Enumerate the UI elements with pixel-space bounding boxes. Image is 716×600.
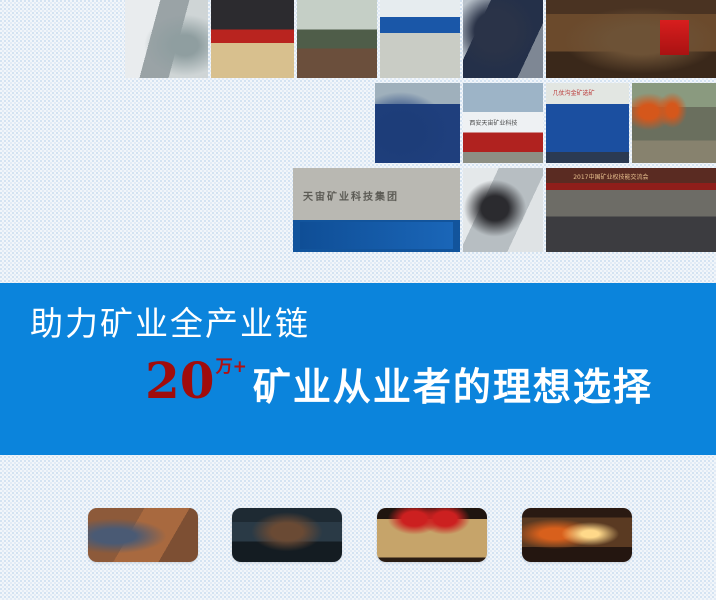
photo-processing-plant-image bbox=[380, 0, 460, 78]
photo-chairman-office-image bbox=[546, 0, 716, 78]
thumb-smelter-furnace-worker[interactable] bbox=[522, 508, 632, 562]
photo-helmet-workers-van-image bbox=[632, 83, 716, 163]
photo-lab-instrument[interactable] bbox=[125, 0, 208, 78]
promo-banner: 助力矿业全产业链 20万+矿业从业者的理想选择 bbox=[0, 283, 716, 455]
thumb-geologist-outcrop-image bbox=[88, 508, 198, 562]
photo-blue-uniform-group[interactable]: 几仗沟金矿选矿 bbox=[546, 83, 629, 163]
photo-industry-conference-caption: 2017中国矿业权技能交流会 bbox=[573, 172, 648, 248]
page-root: 西安天宙矿业科技 几仗沟金矿选矿 天宙矿业科技集团 2017中国矿业权技能交流会… bbox=[0, 0, 716, 600]
photo-mine-crew-portrait[interactable] bbox=[375, 83, 460, 163]
thumbnail-strip bbox=[0, 508, 716, 564]
photo-company-banner-caption: 西安天宙矿业科技 bbox=[469, 118, 517, 160]
photo-industry-conference-2017[interactable]: 2017中国矿业权技能交流会 bbox=[546, 168, 716, 252]
photo-group-headquarters-sign-strip bbox=[300, 222, 454, 249]
photo-processing-plant[interactable] bbox=[380, 0, 460, 78]
thumb-miner-portrait-image bbox=[232, 508, 342, 562]
photo-field-team-mountain[interactable] bbox=[297, 0, 377, 78]
photo-group-headquarters-sign-caption: 天宙矿业科技集团 bbox=[303, 188, 399, 203]
thumb-smelter-furnace-worker-image bbox=[522, 508, 632, 562]
photo-lab-instrument-image bbox=[125, 0, 208, 78]
banner-headline-line2: 20万+矿业从业者的理想选择 bbox=[145, 356, 653, 407]
banner-stat-number: 20 bbox=[145, 356, 215, 406]
photo-group-headquarters-sign[interactable]: 天宙矿业科技集团 bbox=[293, 168, 460, 252]
photo-collage: 西安天宙矿业科技 几仗沟金矿选矿 天宙矿业科技集团 2017中国矿业权技能交流会 bbox=[0, 0, 716, 262]
thumb-geologist-outcrop[interactable] bbox=[88, 508, 198, 562]
photo-helmet-workers-van[interactable] bbox=[632, 83, 716, 163]
banner-headline-line1: 助力矿业全产业链 bbox=[30, 305, 310, 343]
photo-chairman-office[interactable] bbox=[546, 0, 716, 78]
photo-workshop-training[interactable] bbox=[463, 0, 543, 78]
photo-award-ceremony-image bbox=[211, 0, 294, 78]
photo-lab-technician-flask-image bbox=[463, 168, 543, 252]
thumb-two-helmet-workers[interactable] bbox=[377, 508, 487, 562]
photo-workshop-training-image bbox=[463, 0, 543, 78]
photo-lab-technician-flask[interactable] bbox=[463, 168, 543, 252]
banner-headline-tail: 矿业从业者的理想选择 bbox=[253, 365, 653, 409]
banner-stat-unit: 万+ bbox=[216, 359, 247, 376]
photo-blue-uniform-group-caption: 几仗沟金矿选矿 bbox=[553, 88, 595, 160]
thumb-two-helmet-workers-image bbox=[377, 508, 487, 562]
china-flag-icon bbox=[660, 20, 689, 54]
photo-mine-crew-portrait-image bbox=[375, 83, 460, 163]
photo-award-ceremony[interactable] bbox=[211, 0, 294, 78]
photo-field-team-mountain-image bbox=[297, 0, 377, 78]
thumb-miner-portrait[interactable] bbox=[232, 508, 342, 562]
photo-company-banner-outdoor[interactable]: 西安天宙矿业科技 bbox=[463, 83, 543, 163]
